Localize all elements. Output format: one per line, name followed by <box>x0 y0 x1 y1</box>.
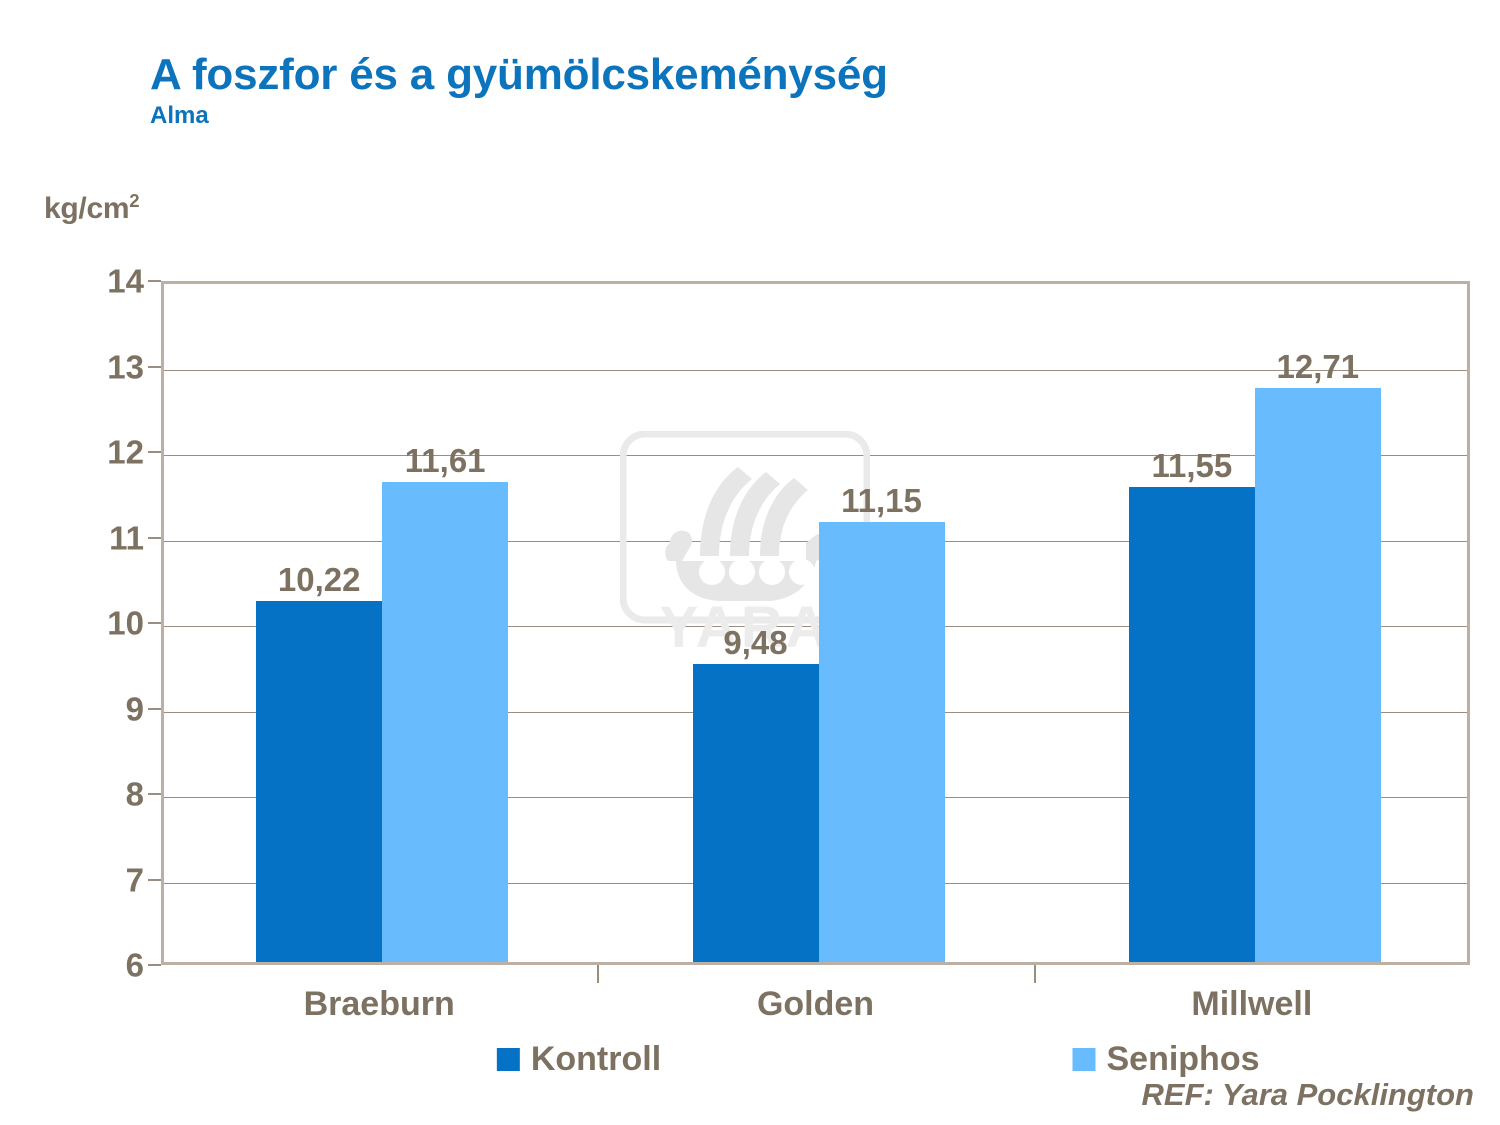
bar-golden-seniphos[interactable] <box>819 522 945 962</box>
y-axis-tick-mark <box>148 366 161 368</box>
bar-value-label: 11,15 <box>841 484 922 517</box>
y-axis-tick-labels: 14131211109876 <box>18 281 144 965</box>
legend-item-seniphos[interactable]: Seniphos <box>1072 1042 1259 1076</box>
gridline <box>164 370 1467 371</box>
bar-golden-kontroll[interactable] <box>693 664 819 962</box>
y-axis-tick-label: 8 <box>24 778 144 811</box>
bar-value-label: 9,48 <box>723 626 787 659</box>
y-axis-tick-label: 12 <box>24 436 144 469</box>
bar-millwell-kontroll[interactable] <box>1129 487 1255 962</box>
legend-label: Kontroll <box>531 1042 661 1076</box>
legend-swatch-icon <box>1072 1048 1095 1071</box>
legend-label: Seniphos <box>1106 1042 1259 1076</box>
y-axis-unit-label: kg/cm2 <box>44 192 139 226</box>
plot-area: YARA 10,2211,619,4811,1511,5512,71 <box>161 281 1470 965</box>
category-label-braeburn: Braeburn <box>304 983 455 1026</box>
y-axis-tick-mark <box>148 964 161 966</box>
bar-value-label: 11,61 <box>405 444 486 477</box>
reference-note: REF: Yara Pocklington <box>1142 1079 1474 1110</box>
y-axis-tick-mark <box>148 451 161 453</box>
y-axis-tick-label: 9 <box>24 692 144 725</box>
y-axis-tick-label: 13 <box>24 350 144 383</box>
chart-subtitle: Alma <box>150 104 1350 128</box>
legend-swatch-icon <box>497 1048 520 1071</box>
page-title: A foszfor és a gyümölcskeménység <box>150 52 1350 98</box>
bar-value-label: 10,22 <box>278 563 361 596</box>
y-axis-unit-exponent: 2 <box>129 190 139 211</box>
category-separator-tick <box>597 965 599 983</box>
bar-millwell-seniphos[interactable] <box>1255 388 1381 962</box>
legend-item-kontroll[interactable]: Kontroll <box>497 1042 661 1076</box>
category-separator-ticks <box>161 965 1470 983</box>
y-axis-tick-mark <box>148 622 161 624</box>
y-axis-unit-base: kg/cm <box>44 192 129 225</box>
bar-braeburn-kontroll[interactable] <box>256 601 382 962</box>
bar-braeburn-seniphos[interactable] <box>382 482 508 962</box>
y-axis-tick-label: 14 <box>24 265 144 298</box>
category-axis-labels: BraeburnGoldenMillwell <box>161 983 1470 1031</box>
category-label-golden: Golden <box>757 983 874 1026</box>
bar-value-label: 12,71 <box>1277 350 1360 383</box>
y-axis-tick-label: 6 <box>24 949 144 982</box>
title-block: A foszfor és a gyümölcskeménység Alma <box>150 52 1350 128</box>
plot-inner: YARA 10,2211,619,4811,1511,5512,71 <box>164 284 1467 962</box>
category-label-millwell: Millwell <box>1191 983 1312 1026</box>
y-axis-tick-mark <box>148 280 161 282</box>
y-axis-tick-label: 10 <box>24 607 144 640</box>
y-axis-tick-label: 7 <box>24 863 144 896</box>
y-axis-tick-mark <box>148 708 161 710</box>
y-axis-tick-label: 11 <box>24 521 144 554</box>
y-axis-tick-marks <box>148 281 161 965</box>
bar-value-label: 11,55 <box>1151 449 1232 482</box>
y-axis-tick-mark <box>148 537 161 539</box>
y-axis-tick-mark <box>148 879 161 881</box>
y-axis-tick-mark <box>148 793 161 795</box>
category-separator-tick <box>1034 965 1036 983</box>
